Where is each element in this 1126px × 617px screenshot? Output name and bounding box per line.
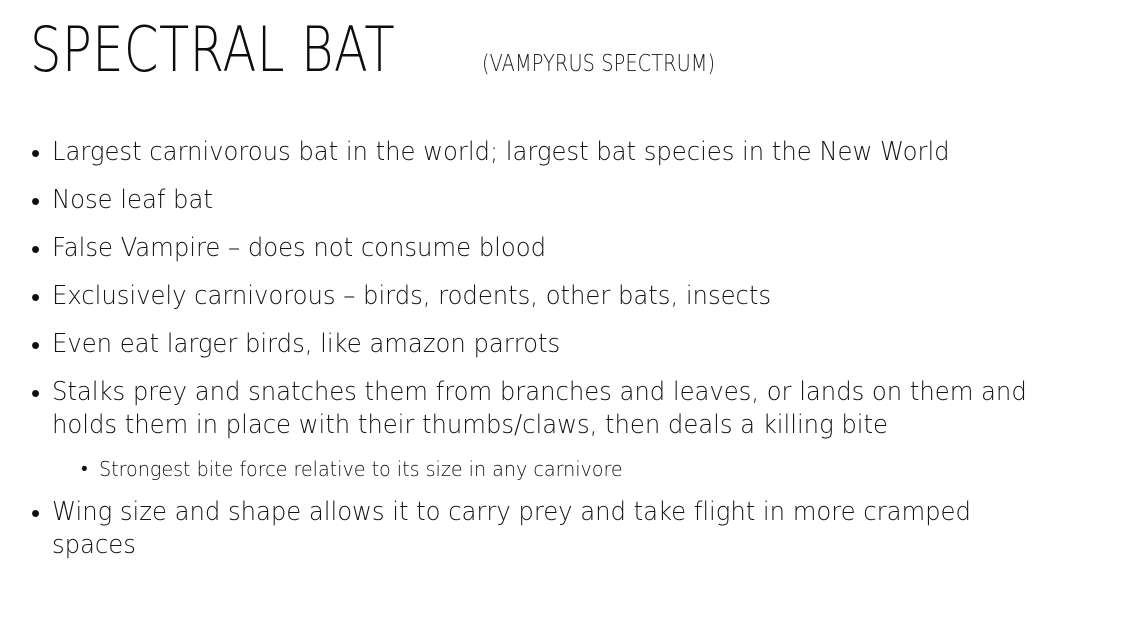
list-item-text: Wing size and shape allows it to carry p… <box>52 496 1046 562</box>
list-item: • Nose leaf bat <box>31 184 1093 218</box>
list-item: • Largest carnivorous bat in the world; … <box>31 136 1093 170</box>
slide-title: SPECTRAL BAT(VAMPYRUS SPECTRUM) <box>30 19 1090 81</box>
list-item-text: Largest carnivorous bat in the world; la… <box>52 136 1046 169</box>
list-item-text: Even eat larger birds, like amazon parro… <box>52 328 1046 361</box>
slide-title-parenthetical: (VAMPYRUS SPECTRUM) <box>482 53 715 76</box>
list-item-text: False Vampire – does not consume blood <box>52 232 1046 265</box>
list-item: • False Vampire – does not consume blood <box>31 232 1093 266</box>
list-item-text: Strongest bite force relative to its siz… <box>99 456 1053 483</box>
bullet-icon: • <box>31 280 52 314</box>
slide-title-main: SPECTRAL BAT <box>30 19 395 81</box>
list-item: • Even eat larger birds, like amazon par… <box>31 328 1093 362</box>
list-item: • Stalks prey and snatches them from bra… <box>31 376 1093 442</box>
bullet-icon: • <box>31 136 52 170</box>
bullet-icon: • <box>31 184 52 218</box>
list-item-text: Exclusively carnivorous – birds, rodents… <box>52 280 1046 313</box>
bullet-icon: • <box>31 328 52 362</box>
bullet-icon: • <box>31 232 52 266</box>
list-item: • Exclusively carnivorous – birds, roden… <box>31 280 1093 314</box>
bullet-icon: • <box>31 496 52 530</box>
presentation-slide: SPECTRAL BAT(VAMPYRUS SPECTRUM) • Larges… <box>0 0 1126 617</box>
list-item-text: Stalks prey and snatches them from branc… <box>52 376 1046 442</box>
bullet-icon: • <box>81 456 99 484</box>
list-item-sub: • Strongest bite force relative to its s… <box>81 456 1093 484</box>
list-item-text: Nose leaf bat <box>52 184 1046 217</box>
bullet-icon: • <box>31 376 52 410</box>
list-item: • Wing size and shape allows it to carry… <box>31 496 1093 562</box>
slide-body-bullet-list: • Largest carnivorous bat in the world; … <box>31 136 1093 576</box>
